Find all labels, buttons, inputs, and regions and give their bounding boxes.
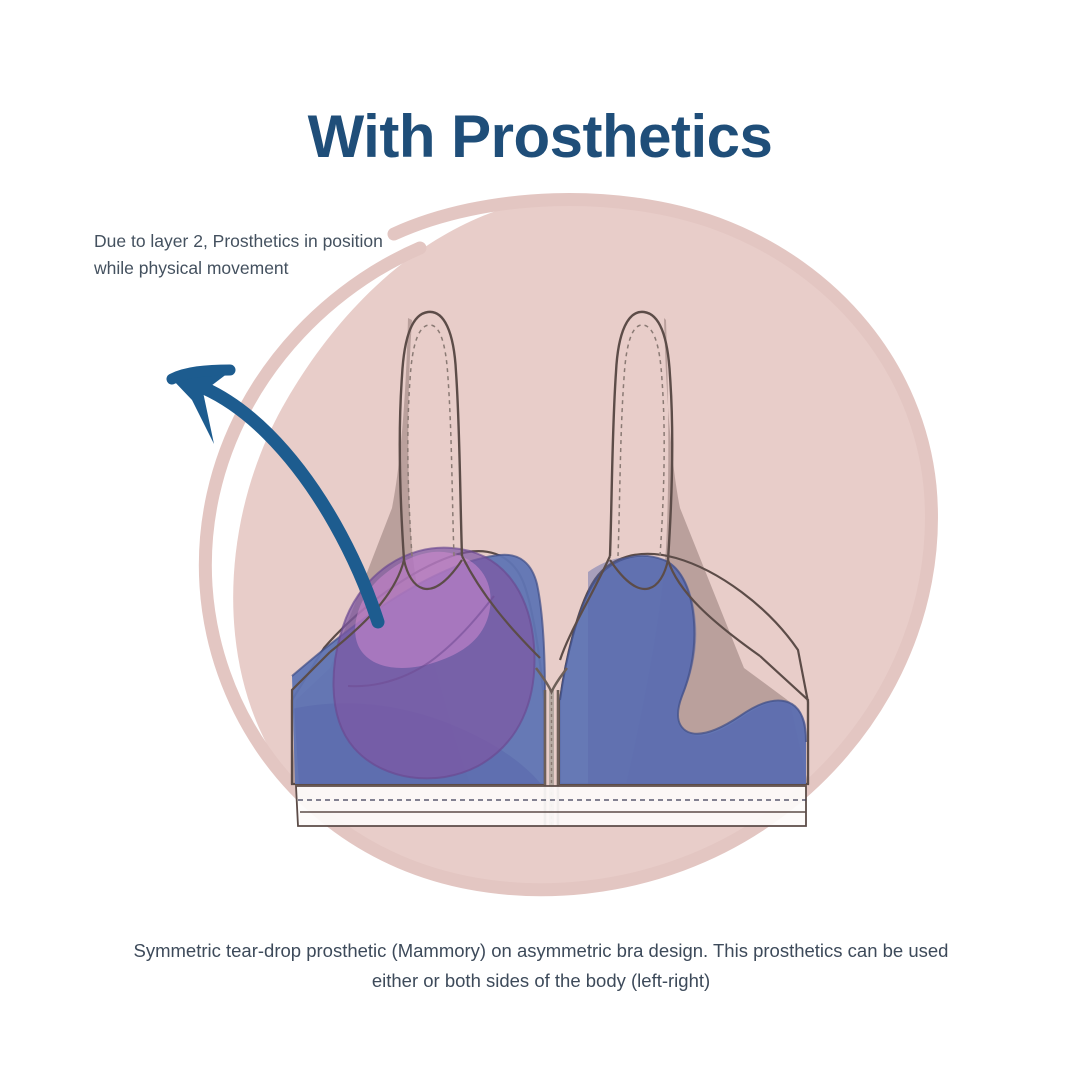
annotation-text: Due to layer 2, Prosthetics in position … bbox=[94, 228, 414, 282]
page-title: With Prosthetics bbox=[0, 101, 1080, 173]
caption-text: Symmetric tear-drop prosthetic (Mammory)… bbox=[130, 936, 952, 996]
poster-canvas: With Prosthetics Due to layer 2, Prosthe… bbox=[0, 0, 1080, 1080]
under-band bbox=[296, 786, 806, 826]
